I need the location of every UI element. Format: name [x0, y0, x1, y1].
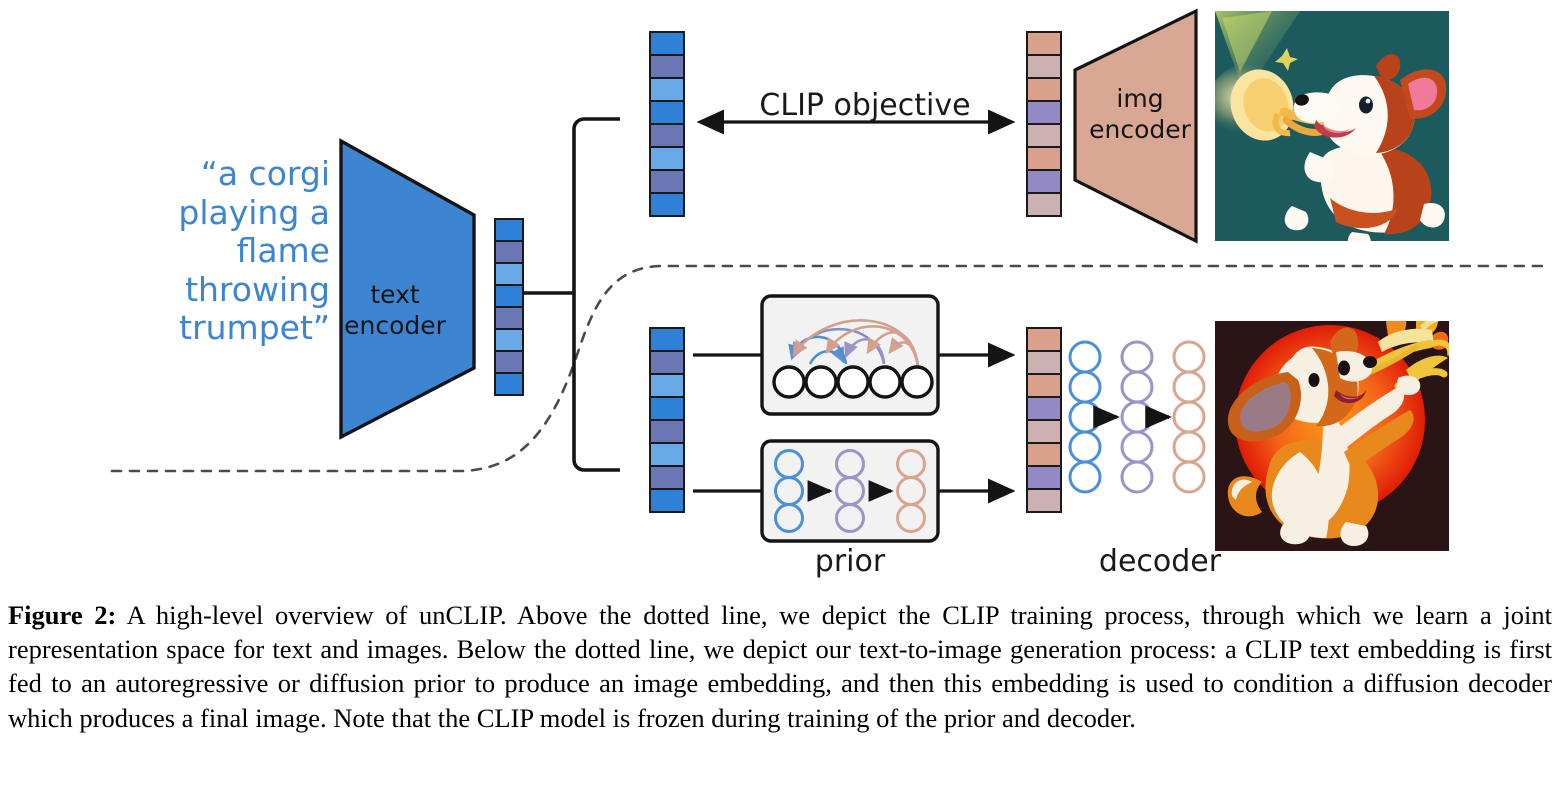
vector-cell: [651, 467, 683, 488]
vector-cell: [496, 220, 522, 240]
vector-cell: [651, 125, 683, 146]
vector-cell: [496, 330, 522, 350]
vector-cell: [1028, 102, 1060, 123]
vector-cell: [1028, 56, 1060, 77]
vector-cell: [1028, 444, 1060, 465]
vector-cell: [496, 286, 522, 306]
vector-cell: [496, 352, 522, 372]
clip-objective-label: CLIP objective: [700, 88, 1030, 123]
vector-cell: [1028, 79, 1060, 100]
prompt-line-2: playing a: [150, 194, 330, 233]
vector-cell: [1028, 171, 1060, 192]
vector-cell: [651, 56, 683, 77]
vector-cell: [651, 33, 683, 54]
vector-cell: [651, 194, 683, 215]
text-encoder-label: text encoder: [335, 280, 455, 341]
vector-cell: [1028, 148, 1060, 169]
vector-cell: [1028, 421, 1060, 442]
text-encoder-label-line-1: text: [335, 280, 455, 311]
prompt-line-5: trumpet”: [150, 309, 330, 348]
vector-cell: [1028, 352, 1060, 373]
vector-cell: [1028, 33, 1060, 54]
gen-image-bottom-art: [1215, 308, 1452, 551]
vector-cell: [1028, 375, 1060, 396]
vector-cell: [496, 374, 522, 394]
vector-cell: [496, 264, 522, 284]
vector-cell: [1028, 398, 1060, 419]
prompt-text: “a corgi playing a flame throwing trumpe…: [150, 155, 330, 348]
decoder-nodes: [1070, 342, 1204, 492]
vector-cell: [1028, 125, 1060, 146]
vector-cell: [651, 490, 683, 511]
prompt-line-3: flame: [150, 232, 330, 271]
vector-cell: [651, 171, 683, 192]
prompt-line-4: throwing: [150, 271, 330, 310]
vector-cell: [1028, 467, 1060, 488]
vector-cell: [651, 148, 683, 169]
figure-unclip-overview: “a corgi playing a flame throwing trumpe…: [0, 0, 1560, 590]
vector-cell: [496, 308, 522, 328]
image-embedding-vector-decoder: [1026, 327, 1062, 513]
vector-cell: [496, 242, 522, 262]
text-embedding-vector-top: [649, 31, 685, 217]
figure-caption: Figure 2: A high-level overview of unCLI…: [8, 598, 1552, 735]
img-encoder-label: img encoder: [1082, 84, 1198, 145]
vector-cell: [651, 421, 683, 442]
image-embedding-vector-top: [1026, 31, 1062, 217]
figure-caption-label: Figure 2:: [8, 600, 116, 630]
vector-cell: [651, 79, 683, 100]
text-embedding-vector-small: [494, 218, 524, 396]
prompt-line-1: “a corgi: [150, 155, 330, 194]
figure-caption-text: A high-level overview of unCLIP. Above t…: [8, 600, 1552, 733]
autoregressive-nodes: [774, 367, 932, 397]
text-embedding-vector-bottom: [649, 327, 685, 513]
decoder-label: decoder: [1060, 544, 1260, 579]
img-encoder-label-line-2: encoder: [1082, 115, 1198, 146]
vector-cell: [1028, 194, 1060, 215]
img-encoder-label-line-1: img: [1082, 84, 1198, 115]
vector-cell: [1028, 490, 1060, 511]
text-encoder-label-line-2: encoder: [335, 311, 455, 342]
vector-cell: [651, 375, 683, 396]
vector-cell: [1028, 329, 1060, 350]
vector-cell: [651, 352, 683, 373]
vector-cell: [651, 444, 683, 465]
gen-image-top-art: [1206, 11, 1449, 250]
vector-cell: [651, 102, 683, 123]
diffusion-prior-box: [762, 441, 938, 541]
vector-cell: [651, 329, 683, 350]
branch-bracket: [574, 119, 620, 470]
vector-cell: [651, 398, 683, 419]
prior-label: prior: [770, 544, 930, 579]
